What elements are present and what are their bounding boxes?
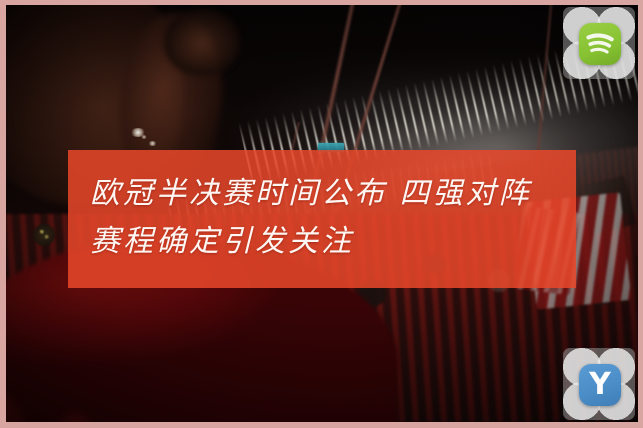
headline-title: 欧冠半决赛时间公布 四强对阵赛程确定引发关注 <box>90 170 554 266</box>
jersey-fold-2 <box>52 414 98 422</box>
jersey-fold-1 <box>6 394 25 422</box>
screenshot-root: 欧冠半决赛时间公布 四强对阵赛程确定引发关注 Y <box>0 0 643 428</box>
app-icon-spotify[interactable] <box>563 7 635 79</box>
camera-flash-3 <box>141 135 147 139</box>
camera-flash-2 <box>148 141 157 146</box>
spotify-icon[interactable] <box>579 23 621 65</box>
yandex-icon-letter: Y <box>579 364 621 406</box>
stadium-photo: 欧冠半决赛时间公布 四强对阵赛程确定引发关注 Y <box>6 5 638 422</box>
foreground-silhouette-hand <box>164 9 240 76</box>
jersey-badge-detail <box>33 224 55 246</box>
yandex-icon[interactable]: Y <box>579 364 621 406</box>
headline-banner: 欧冠半决赛时间公布 四强对阵赛程确定引发关注 <box>68 150 576 288</box>
app-icon-yandex[interactable]: Y <box>563 348 635 420</box>
